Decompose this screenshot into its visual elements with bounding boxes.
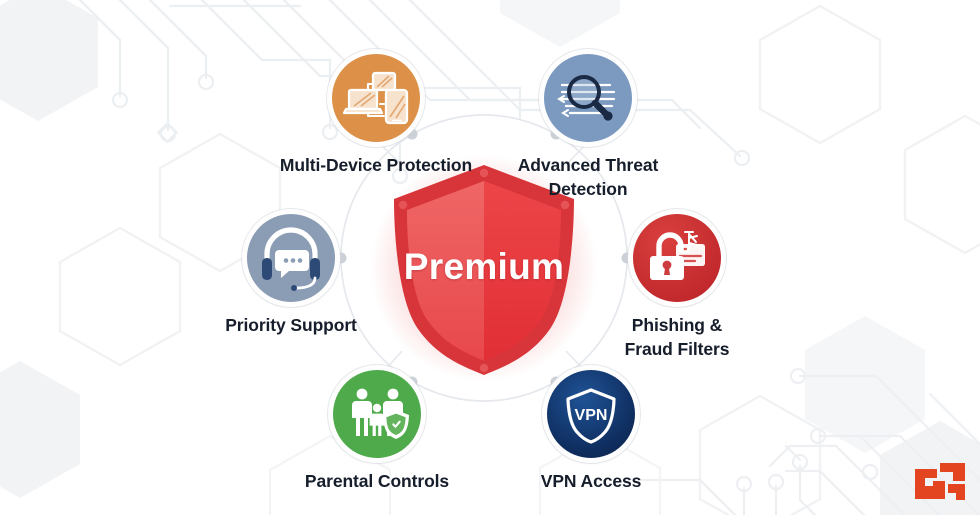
feature-label: VPN Access (491, 469, 691, 493)
headset-chat-icon (247, 214, 335, 302)
feature-label: Priority Support (191, 313, 391, 337)
magnifier-document-icon (544, 54, 632, 142)
feature-label: Parental Controls (277, 469, 477, 493)
feature-advanced-threat-detection[interactable]: Advanced Threat Detection (488, 54, 688, 201)
brand-logo-g-icon[interactable] (912, 459, 968, 505)
infographic-canvas: Premium (0, 0, 980, 515)
feature-phishing-fraud-filters[interactable]: Phishing & Fraud Filters (577, 214, 777, 361)
feature-label: Multi-Device Protection (276, 153, 476, 177)
family-shield-icon (333, 370, 421, 458)
feature-multi-device-protection[interactable]: Multi-Device Protection (276, 54, 476, 177)
feature-label: Advanced Threat Detection (488, 153, 688, 201)
feature-label: Phishing & Fraud Filters (577, 313, 777, 361)
vpn-badge-text: VPN (575, 407, 608, 424)
feature-vpn-access[interactable]: VPN VPN Access (491, 370, 691, 493)
vpn-shield-icon: VPN (547, 370, 635, 458)
devices-icon (332, 54, 420, 142)
feature-parental-controls[interactable]: Parental Controls (277, 370, 477, 493)
open-padlock-hook-icon (633, 214, 721, 302)
feature-priority-support[interactable]: Priority Support (191, 214, 391, 337)
shield-label: Premium (369, 246, 599, 288)
